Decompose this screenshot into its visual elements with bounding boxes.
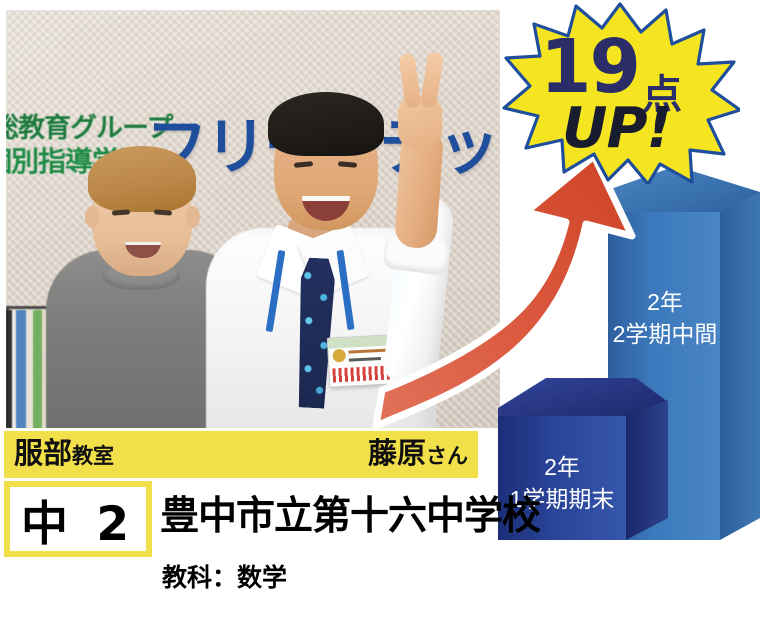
student-left-ear-left [85, 206, 99, 228]
student-right-hair [268, 92, 384, 156]
school-name: 豊中市立第十六中学校 [160, 485, 540, 541]
grade-badge: 中 2 [4, 481, 152, 557]
badge-up-label: UP! [562, 96, 671, 161]
classroom-label: 服部教室 [14, 435, 114, 476]
student-left-hair [88, 146, 196, 212]
grade-box-inner: 中 2 [10, 487, 146, 551]
student-name-label: 藤原さん [368, 435, 468, 476]
classroom-name: 服部 [14, 438, 72, 470]
poster-root: 総教育グループ 個別指導学院 フリーステップ [0, 0, 760, 620]
grade-text: 中 2 [21, 485, 135, 554]
growth-arrow [370, 150, 660, 440]
student-name-suffix: さん [426, 445, 468, 468]
classroom-suffix: 教室 [72, 445, 114, 468]
student-left-ear-right [186, 206, 200, 228]
info-band: 服部教室 藤原さん [4, 431, 478, 478]
student-name: 藤原 [368, 438, 426, 470]
subject-label: 教科：数学 [162, 558, 287, 594]
id-badge-logo-icon [332, 349, 346, 363]
score-up-badge: 19 点 UP! [500, 2, 740, 184]
svg-text:2年: 2年 [544, 454, 580, 480]
